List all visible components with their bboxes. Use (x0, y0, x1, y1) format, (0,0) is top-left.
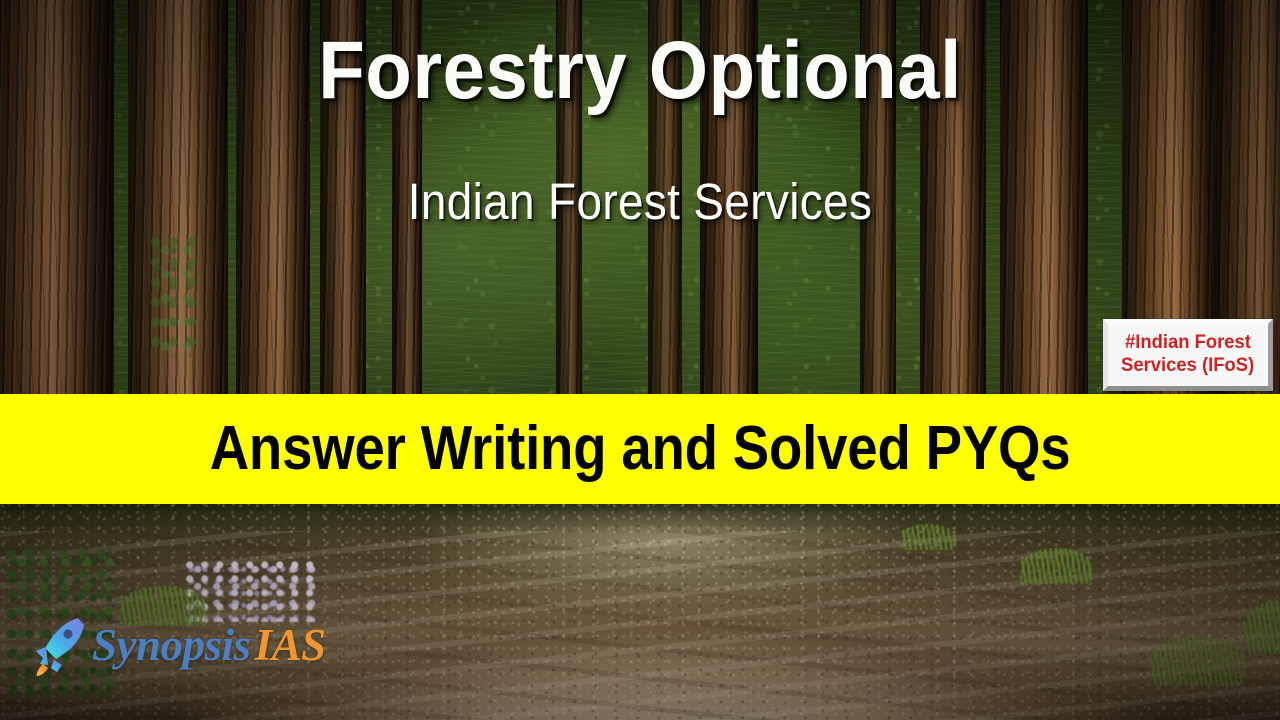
badge-line-2: Services (IFoS) (1121, 356, 1254, 377)
highlight-band: Answer Writing and Solved PYQs (0, 394, 1280, 504)
rocket-icon (34, 614, 88, 676)
brand-name-ias: IAS (255, 623, 326, 668)
page-title: Forestry Optional (45, 30, 1235, 112)
brand-logo[interactable]: Synopsis IAS (34, 612, 326, 678)
forestry-optional-banner: Forestry Optional Indian Forest Services… (0, 0, 1280, 720)
page-subtitle: Indian Forest Services (64, 176, 1216, 227)
brand-name-synopsis: Synopsis (92, 623, 251, 668)
status-badge: #Indian Forest Services (IFoS) (1103, 319, 1273, 391)
badge-line-1: #Indian Forest (1125, 333, 1251, 354)
highlight-band-text: Answer Writing and Solved PYQs (210, 418, 1071, 480)
